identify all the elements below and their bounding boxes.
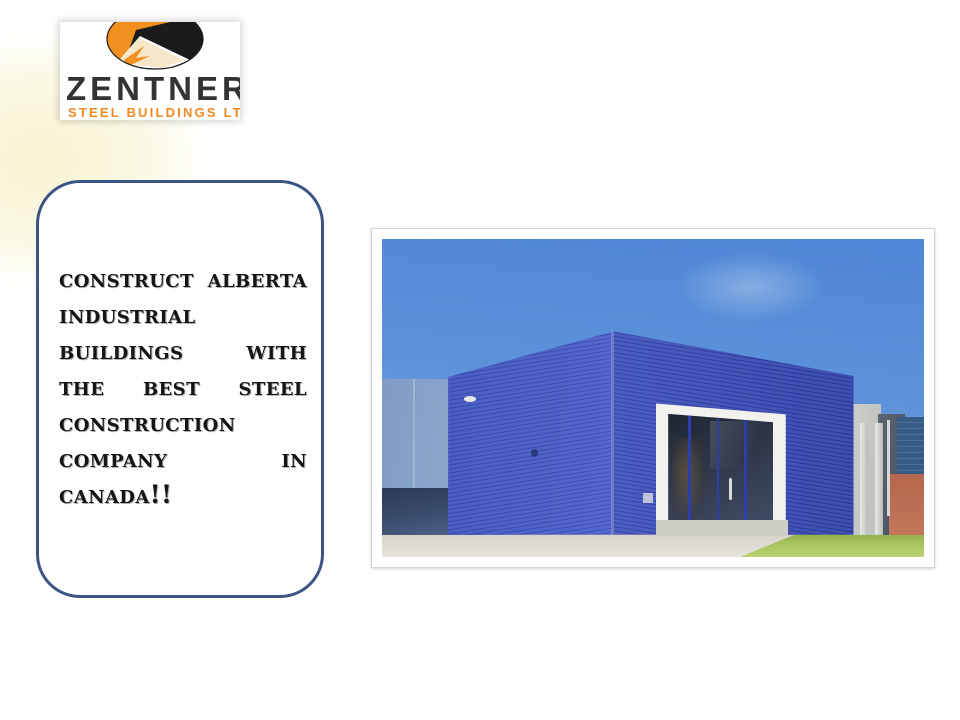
photo-mullion-3 (744, 409, 747, 528)
logo-wordmark: ZENTNER (66, 72, 240, 106)
building-photo-frame (371, 228, 935, 568)
building-photo (382, 239, 924, 557)
photo-entrance-glazing (668, 409, 773, 528)
photo-pillar-left (860, 423, 868, 534)
logo-inner: ZENTNER STEEL BUILDINGS LTD (60, 22, 240, 120)
photo-pillar-right (875, 423, 883, 534)
photo-mullion-1 (688, 409, 691, 528)
photo-cloud (675, 252, 827, 322)
logo-tagline: STEEL BUILDINGS LTD (68, 106, 240, 120)
photo-right-brick-wall (889, 474, 924, 534)
photo-side-door (643, 493, 653, 503)
photo-door-handle (729, 478, 732, 499)
photo-mullion-2 (717, 409, 720, 528)
zentner-logo: ZENTNER STEEL BUILDINGS LTD (60, 22, 240, 120)
headline-panel: Construct Alberta industrial buildings w… (36, 180, 324, 598)
photo-entrance-sill (656, 520, 789, 535)
slide-canvas: ZENTNER STEEL BUILDINGS LTD Construct Al… (0, 0, 960, 720)
zentner-oval-mark-icon (106, 22, 204, 70)
photo-building-corner (611, 331, 614, 535)
photo-flag-pole (887, 420, 890, 515)
headline-text: Construct Alberta industrial buildings w… (59, 261, 307, 513)
